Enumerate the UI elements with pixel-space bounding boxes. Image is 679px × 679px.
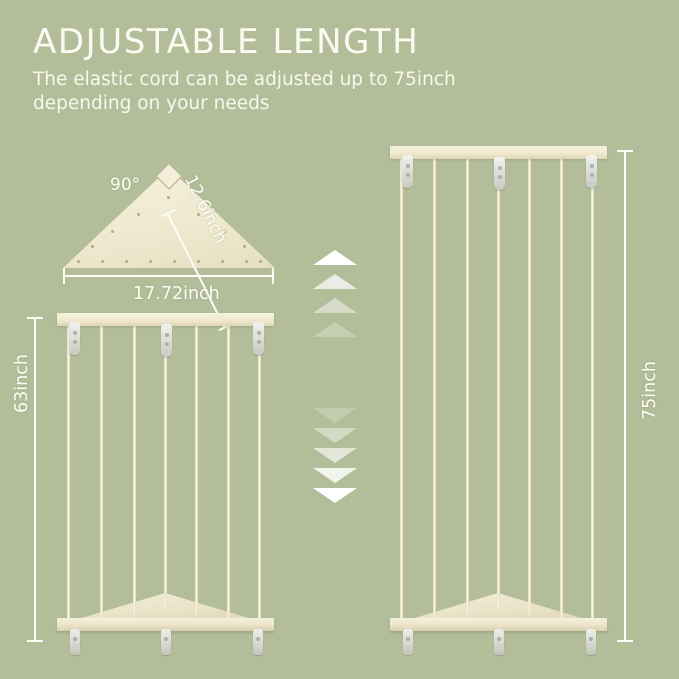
gate-bar [258,323,261,625]
gate-short [57,313,274,643]
chevron-down-icon [313,488,357,503]
gate-hinge [494,157,505,190]
gate-bar [195,323,198,615]
screw-hole [137,213,140,216]
page-title: ADJUSTABLE LENGTH [33,22,419,62]
gate-hinge [161,324,172,357]
dimension-tick [272,268,274,284]
gate-bar [100,323,103,621]
page-subtitle: The elastic cord can be adjusted up to 7… [33,68,503,116]
gate-foot [70,629,80,655]
gate-bar [497,156,500,611]
angle-label: 90° [110,175,140,195]
dimension-tick [27,640,43,642]
dimension-tick [63,268,65,284]
screw-hole [91,245,94,248]
screw-hole [77,260,80,263]
gate-foot [586,629,596,655]
gate-bar [133,323,136,615]
dimension-tick [617,150,633,152]
screw-hole [149,260,152,263]
dimension-tick [27,317,43,319]
gate-foot [161,629,171,655]
chevron-down-icon [313,468,357,483]
gate-bar [164,323,167,611]
height-label-short: 63inch [12,354,32,413]
chevron-up-icon [313,298,357,313]
gate-bar [227,323,230,621]
height-dimension-line-short [34,317,36,641]
gate-tall [390,146,607,643]
base-dimension-line [63,275,274,277]
gate-hinge [253,322,264,355]
gate-bar [528,156,531,615]
gate-foot [253,629,263,655]
gate-bar [433,156,436,621]
screw-hole [125,260,128,263]
chevron-down-icon [313,408,357,423]
chevron-up-icon [313,250,357,265]
screw-hole [111,230,114,233]
gate-bar [591,156,594,625]
height-dimension-line-tall [624,150,626,641]
dimension-tick [617,640,633,642]
chevron-down-icon [313,448,357,463]
gate-hinge [586,155,597,188]
height-label-tall: 75inch [640,361,660,420]
gate-bar [67,323,70,625]
base-label: 17.72inch [133,284,220,304]
hypotenuse-dimension [168,148,298,278]
chevron-down-icon [313,428,357,443]
chevron-up-icon [313,274,357,289]
gate-hinge [69,322,80,355]
gate-bar [400,156,403,625]
screw-hole [101,260,104,263]
gate-bar [466,156,469,615]
gate-hinge [402,155,413,188]
gate-bar [560,156,563,621]
gate-foot [494,629,504,655]
chevron-up-icon [313,322,357,337]
gate-foot [403,629,413,655]
infographic-canvas: ADJUSTABLE LENGTH The elastic cord can b… [0,0,679,679]
